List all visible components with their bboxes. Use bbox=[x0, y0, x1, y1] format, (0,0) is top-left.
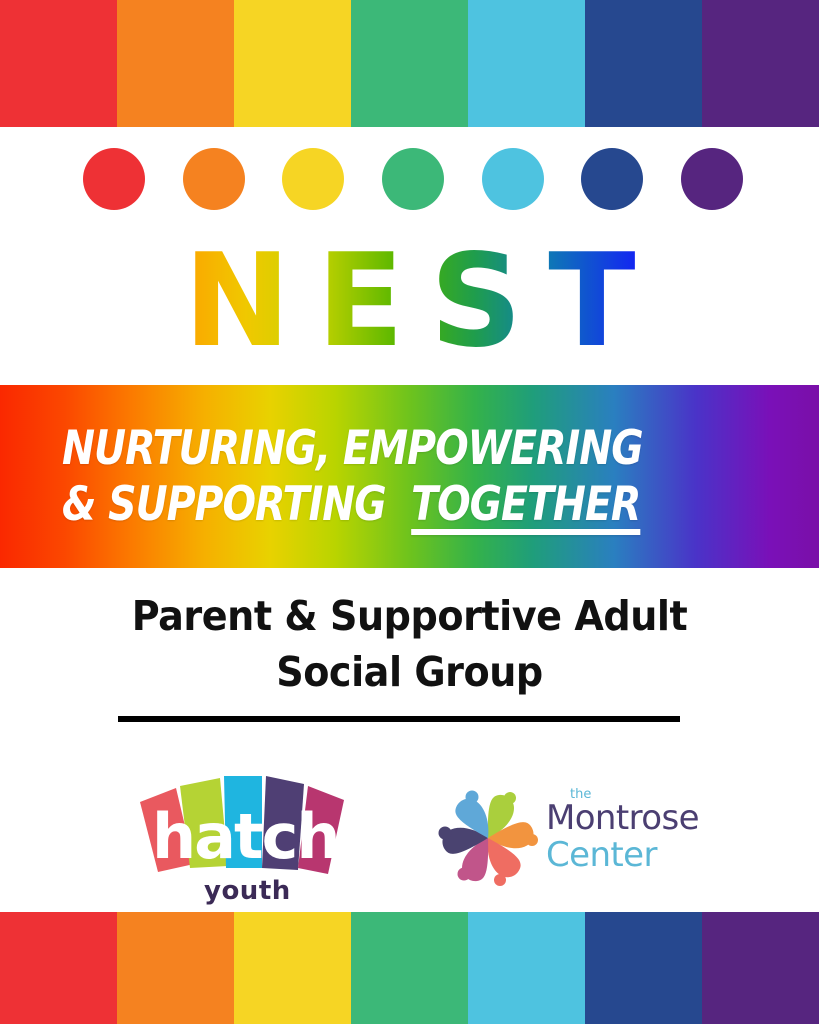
montrose-wordmark: the Montrose Center bbox=[546, 788, 716, 873]
montrose-name: Montrose bbox=[546, 800, 716, 836]
tagline-emphasis-together: TOGETHER bbox=[411, 477, 640, 532]
stripe-yellow bbox=[234, 912, 351, 1024]
dot-orange bbox=[526, 834, 538, 846]
stripe-green bbox=[351, 0, 468, 127]
rainbow-dot-row bbox=[83, 148, 743, 212]
bottom-rainbow-band bbox=[0, 912, 819, 1024]
montrose-pinwheel-icon bbox=[438, 790, 538, 886]
dot-blue bbox=[466, 791, 479, 804]
tagline-line-2: & SUPPORTING TOGETHER bbox=[62, 477, 669, 533]
dot-coral bbox=[494, 874, 506, 886]
tagline-line-1: NURTURING, EMPOWERING bbox=[62, 421, 669, 477]
stripe-yellow bbox=[234, 0, 351, 127]
dot-lime bbox=[504, 792, 516, 804]
top-rainbow-band bbox=[0, 0, 819, 127]
montrose-center-logo[interactable]: the Montrose Center bbox=[438, 790, 713, 890]
dot-blue bbox=[581, 148, 643, 210]
stripe-blue bbox=[585, 0, 702, 127]
dot-navy bbox=[439, 827, 452, 840]
dot-light-blue bbox=[482, 148, 544, 210]
dot-yellow bbox=[282, 148, 344, 210]
subtitle-line-1: Parent & Supportive Adult bbox=[29, 588, 791, 644]
tagline-line-2-prefix: & SUPPORTING bbox=[62, 477, 386, 532]
subtitle-line-2: Social Group bbox=[29, 644, 791, 700]
stripe-red bbox=[0, 0, 117, 127]
logo-row: hatch youth bbox=[0, 768, 819, 908]
stripe-light-blue bbox=[468, 912, 585, 1024]
hatch-wordmark: hatch bbox=[152, 800, 339, 873]
stripe-red bbox=[0, 912, 117, 1024]
dot-red bbox=[83, 148, 145, 210]
divider-rule bbox=[118, 716, 680, 722]
stripe-purple bbox=[702, 0, 819, 127]
nest-wordmark: NEST bbox=[0, 236, 819, 368]
stripe-green bbox=[351, 912, 468, 1024]
stripe-light-blue bbox=[468, 0, 585, 127]
stripe-orange bbox=[117, 0, 234, 127]
stripe-blue bbox=[585, 912, 702, 1024]
poster-canvas: NEST NURTURING, EMPOWERING & SUPPORTING … bbox=[0, 0, 819, 1024]
stripe-orange bbox=[117, 912, 234, 1024]
dot-green bbox=[382, 148, 444, 210]
hatch-sub-wordmark: youth bbox=[204, 876, 291, 906]
hatch-youth-logo[interactable]: hatch youth bbox=[132, 768, 362, 908]
dot-magenta bbox=[458, 868, 471, 881]
stripe-purple bbox=[702, 912, 819, 1024]
montrose-center: Center bbox=[546, 837, 716, 873]
montrose-petals bbox=[438, 791, 538, 887]
dot-purple bbox=[681, 148, 743, 210]
subtitle-block: Parent & Supportive Adult Social Group bbox=[0, 588, 819, 700]
dot-orange bbox=[183, 148, 245, 210]
tagline-banner: NURTURING, EMPOWERING & SUPPORTING TOGET… bbox=[0, 385, 819, 568]
hatch-youth-logo-graphic: hatch youth bbox=[132, 768, 362, 908]
